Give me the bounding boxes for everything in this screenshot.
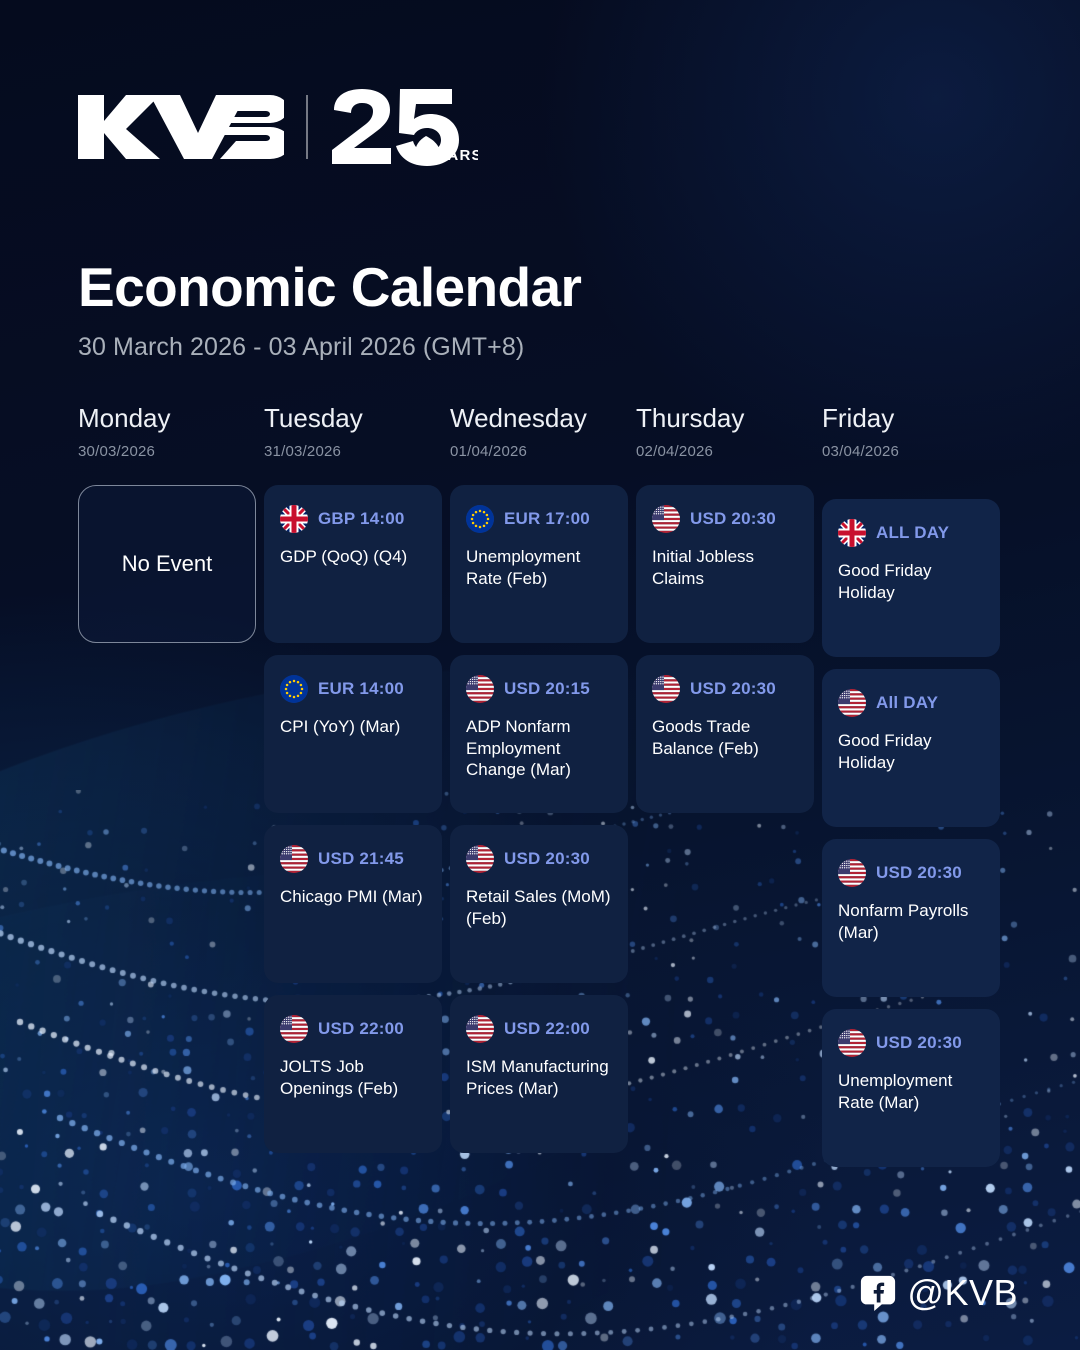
event-card[interactable]: USD 20:30Initial Jobless Claims xyxy=(636,485,814,643)
event-card-header: GBP 14:00 xyxy=(280,505,426,533)
us-flag xyxy=(652,505,680,533)
currency-time-label: ALL DAY xyxy=(876,523,949,543)
event-card[interactable]: ALL DAYGood Friday Holiday xyxy=(822,499,1000,657)
event-card[interactable]: USD 22:00JOLTS Job Openings (Feb) xyxy=(264,995,442,1153)
day-header: Tuesday31/03/2026 xyxy=(264,404,450,460)
currency-time-label: USD 20:15 xyxy=(504,679,590,699)
event-card-header: All DAY xyxy=(838,689,984,717)
currency-time-label: USD 21:45 xyxy=(318,849,404,869)
day-events: EUR 17:00Unemployment Rate (Feb)USD 20:1… xyxy=(450,485,636,1165)
currency-time-label: USD 22:00 xyxy=(504,1019,590,1039)
currency-time-label: USD 20:30 xyxy=(876,1033,962,1053)
event-card[interactable]: USD 20:30Goods Trade Balance (Feb) xyxy=(636,655,814,813)
event-card[interactable]: USD 20:30Unemployment Rate (Mar) xyxy=(822,1009,1000,1167)
event-card-header: USD 20:15 xyxy=(466,675,612,703)
day-events: GBP 14:00GDP (QoQ) (Q4)EUR 14:00CPI (YoY… xyxy=(264,485,450,1165)
event-title: Retail Sales (MoM) (Feb) xyxy=(466,886,612,930)
event-card-header: USD 20:30 xyxy=(838,1029,984,1057)
event-title: JOLTS Job Openings (Feb) xyxy=(280,1056,426,1100)
day-name: Tuesday xyxy=(264,404,442,433)
currency-time-label: EUR 14:00 xyxy=(318,679,404,699)
event-card-header: USD 20:30 xyxy=(652,675,798,703)
day-date: 02/04/2026 xyxy=(636,443,814,460)
currency-time-label: GBP 14:00 xyxy=(318,509,405,529)
event-card-header: USD 20:30 xyxy=(466,845,612,873)
gb-flag xyxy=(280,505,308,533)
event-title: Goods Trade Balance (Feb) xyxy=(652,716,798,760)
kvb-wordmark-icon xyxy=(78,91,284,163)
calendar-column-thursday: Thursday02/04/2026USD 20:30Initial Joble… xyxy=(636,404,822,1179)
event-card[interactable]: GBP 14:00GDP (QoQ) (Q4) xyxy=(264,485,442,643)
currency-time-label: USD 20:30 xyxy=(504,849,590,869)
day-date: 31/03/2026 xyxy=(264,443,442,460)
day-header: Thursday02/04/2026 xyxy=(636,404,822,460)
event-title: Initial Jobless Claims xyxy=(652,546,798,590)
day-events: No Event xyxy=(78,485,264,643)
calendar-column-friday: Friday03/04/2026 ALL DAYGood Friday Holi… xyxy=(822,404,1008,1179)
event-title: Nonfarm Payrolls (Mar) xyxy=(838,900,984,944)
no-event-label: No Event xyxy=(122,551,213,577)
us-flag xyxy=(652,675,680,703)
event-card[interactable]: USD 20:15ADP Nonfarm Employment Change (… xyxy=(450,655,628,813)
event-title: ISM Manufacturing Prices (Mar) xyxy=(466,1056,612,1100)
day-date: 30/03/2026 xyxy=(78,443,256,460)
eu-flag xyxy=(280,675,308,703)
event-card-header: USD 22:00 xyxy=(466,1015,612,1043)
calendar-column-wednesday: Wednesday01/04/2026EUR 17:00Unemployment… xyxy=(450,404,636,1179)
us-flag xyxy=(838,689,866,717)
day-header: Wednesday01/04/2026 xyxy=(450,404,636,460)
gb-flag xyxy=(838,519,866,547)
event-card[interactable]: USD 21:45Chicago PMI (Mar) xyxy=(264,825,442,983)
currency-time-label: USD 22:00 xyxy=(318,1019,404,1039)
event-card-header: USD 20:30 xyxy=(838,859,984,887)
day-header: Friday03/04/2026 xyxy=(822,404,1008,460)
event-card-header: EUR 17:00 xyxy=(466,505,612,533)
event-card[interactable]: USD 20:30Nonfarm Payrolls (Mar) xyxy=(822,839,1000,997)
event-title: Good Friday Holiday xyxy=(838,730,984,774)
us-flag xyxy=(466,845,494,873)
background-glow xyxy=(480,0,1080,460)
us-flag xyxy=(280,1015,308,1043)
event-card-header: EUR 14:00 xyxy=(280,675,426,703)
day-events: USD 20:30Initial Jobless ClaimsUSD 20:30… xyxy=(636,485,822,825)
event-title: Unemployment Rate (Feb) xyxy=(466,546,612,590)
event-card-header: USD 20:30 xyxy=(652,505,798,533)
us-flag xyxy=(466,1015,494,1043)
handle-text: @KVB xyxy=(907,1272,1018,1314)
currency-time-label: EUR 17:00 xyxy=(504,509,590,529)
svg-text:YEARS: YEARS xyxy=(425,147,478,164)
event-title: Unemployment Rate (Mar) xyxy=(838,1070,984,1114)
date-range-subtitle: 30 March 2026 - 03 April 2026 (GMT+8) xyxy=(78,333,524,362)
currency-time-label: All DAY xyxy=(876,693,938,713)
event-card[interactable]: EUR 14:00CPI (YoY) (Mar) xyxy=(264,655,442,813)
day-date: 01/04/2026 xyxy=(450,443,628,460)
event-card[interactable]: EUR 17:00Unemployment Rate (Feb) xyxy=(450,485,628,643)
day-name: Friday xyxy=(822,404,1000,433)
eu-flag xyxy=(466,505,494,533)
calendar-grid: Monday30/03/2026No EventTuesday31/03/202… xyxy=(78,404,1018,1179)
event-title: Chicago PMI (Mar) xyxy=(280,886,426,908)
event-card-header: ALL DAY xyxy=(838,519,984,547)
page-title: Economic Calendar xyxy=(78,258,581,317)
event-card-header: USD 21:45 xyxy=(280,845,426,873)
no-event-card: No Event xyxy=(78,485,256,643)
day-name: Thursday xyxy=(636,404,814,433)
us-flag xyxy=(280,845,308,873)
us-flag xyxy=(466,675,494,703)
event-card[interactable]: USD 20:30Retail Sales (MoM) (Feb) xyxy=(450,825,628,983)
event-title: CPI (YoY) (Mar) xyxy=(280,716,426,738)
event-card[interactable]: USD 22:00ISM Manufacturing Prices (Mar) xyxy=(450,995,628,1153)
calendar-column-tuesday: Tuesday31/03/2026 GBP 14:00GDP (QoQ) (Q4… xyxy=(264,404,450,1179)
facebook-icon[interactable] xyxy=(859,1274,897,1312)
calendar-column-monday: Monday30/03/2026No Event xyxy=(78,404,264,1179)
us-flag xyxy=(838,1029,866,1057)
anniversary-25-years-icon: YEARS xyxy=(330,88,478,166)
social-handle[interactable]: @KVB xyxy=(859,1272,1018,1314)
currency-time-label: USD 20:30 xyxy=(876,863,962,883)
logo-divider xyxy=(306,95,308,159)
currency-time-label: USD 20:30 xyxy=(690,679,776,699)
us-flag xyxy=(838,859,866,887)
poster-canvas: YEARS Economic Calendar 30 March 2026 - … xyxy=(0,0,1080,1350)
day-header: Monday30/03/2026 xyxy=(78,404,264,460)
event-card[interactable]: All DAYGood Friday Holiday xyxy=(822,669,1000,827)
day-name: Wednesday xyxy=(450,404,628,433)
brand-logo: YEARS xyxy=(78,88,478,166)
event-title: Good Friday Holiday xyxy=(838,560,984,604)
currency-time-label: USD 20:30 xyxy=(690,509,776,529)
day-name: Monday xyxy=(78,404,256,433)
event-title: ADP Nonfarm Employment Change (Mar) xyxy=(466,716,612,782)
day-events: ALL DAYGood Friday HolidayAll DAYGood Fr… xyxy=(822,499,1008,1179)
event-card-header: USD 22:00 xyxy=(280,1015,426,1043)
day-date: 03/04/2026 xyxy=(822,443,1000,460)
event-title: GDP (QoQ) (Q4) xyxy=(280,546,426,568)
